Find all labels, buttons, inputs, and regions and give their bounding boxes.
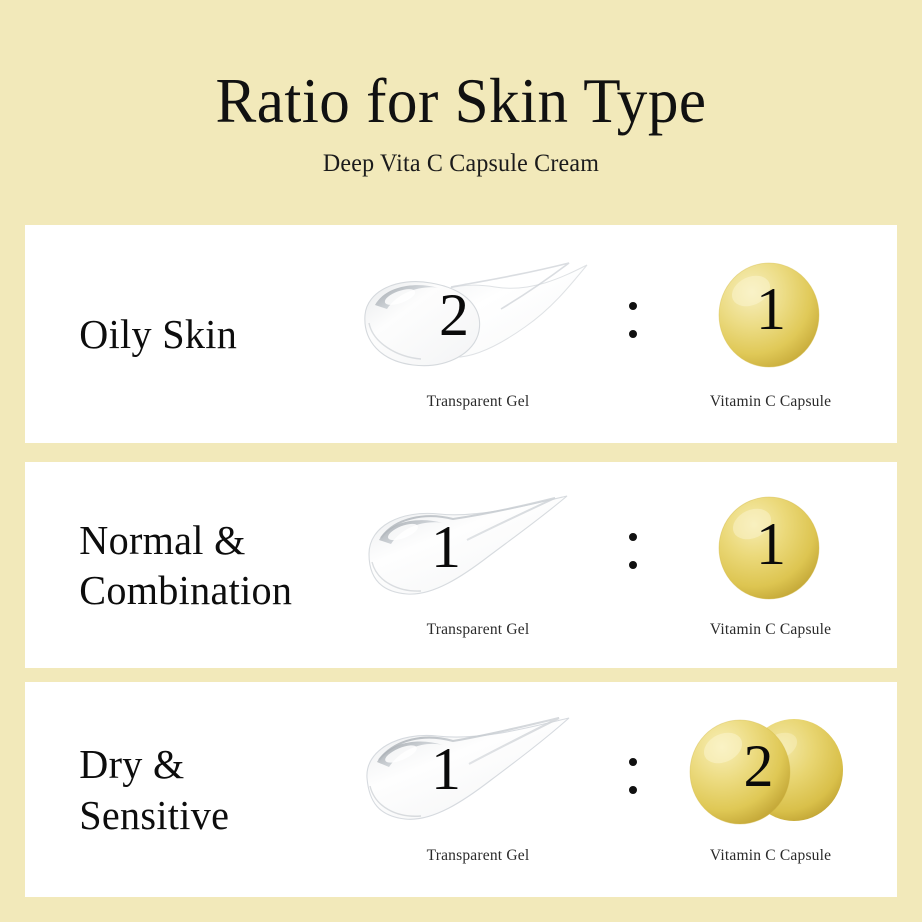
ratio-row-dry-sensitive: Dry & Sensitive bbox=[25, 682, 897, 897]
capsule-caption: Vitamin C Capsule bbox=[710, 621, 831, 639]
capsule-visual-single: 1 bbox=[711, 257, 831, 382]
separator-dot-top bbox=[629, 533, 637, 541]
infographic-page: Ratio for Skin Type Deep Vita C Capsule … bbox=[0, 0, 922, 922]
ratio-separator bbox=[600, 533, 666, 569]
vitamin-c-capsule-icon bbox=[711, 492, 831, 610]
gel-smear-single-icon bbox=[355, 492, 600, 610]
skin-type-line: Combination bbox=[79, 565, 351, 615]
ratio-area: 2 Transparent Gel bbox=[355, 225, 897, 443]
header: Ratio for Skin Type Deep Vita C Capsule … bbox=[0, 0, 922, 178]
capsule-visual-double: 2 bbox=[684, 714, 859, 836]
separator-dot-top bbox=[629, 758, 637, 766]
gel-smear-single-icon bbox=[355, 714, 600, 836]
skin-type-line: Normal & bbox=[79, 515, 351, 565]
ratio-area: 1 Transparent Gel bbox=[355, 682, 897, 897]
gel-caption: Transparent Gel bbox=[426, 847, 529, 865]
gel-caption: Transparent Gel bbox=[426, 621, 529, 639]
skin-type-line: Dry & bbox=[79, 739, 351, 789]
ingredient-transparent-gel: 2 Transparent Gel bbox=[355, 257, 600, 411]
capsule-caption: Vitamin C Capsule bbox=[710, 393, 831, 411]
capsule-visual-single: 1 bbox=[711, 492, 831, 610]
ratio-row-normal-combination: Normal & Combination bbox=[25, 462, 897, 668]
vitamin-c-capsule-icon bbox=[711, 257, 831, 382]
ratio-card-list: Oily Skin bbox=[25, 225, 897, 897]
ratio-separator bbox=[600, 302, 666, 338]
ingredient-vitamin-c-capsule: 2 Vitamin C Capsule bbox=[666, 714, 876, 865]
ratio-separator bbox=[600, 758, 666, 794]
gel-visual-single: 1 bbox=[355, 492, 600, 610]
ingredient-transparent-gel: 1 Transparent Gel bbox=[355, 714, 600, 865]
gel-smear-double-icon bbox=[355, 257, 600, 382]
separator-dot-bottom bbox=[629, 786, 637, 794]
separator-dot-top bbox=[629, 302, 637, 310]
skin-type-label-oily: Oily Skin bbox=[28, 309, 351, 359]
skin-type-line: Sensitive bbox=[79, 790, 351, 840]
page-title: Ratio for Skin Type bbox=[14, 70, 908, 133]
gel-visual-single: 1 bbox=[355, 714, 600, 836]
separator-dot-bottom bbox=[629, 330, 637, 338]
ratio-area: 1 Transparent Gel bbox=[355, 462, 897, 668]
capsule-caption: Vitamin C Capsule bbox=[710, 847, 831, 865]
skin-type-label-normal: Normal & Combination bbox=[28, 515, 351, 615]
skin-type-line: Oily Skin bbox=[79, 309, 351, 359]
ingredient-vitamin-c-capsule: 1 Vitamin C Capsule bbox=[666, 492, 876, 639]
ingredient-vitamin-c-capsule: 1 Vitamin C Capsule bbox=[666, 257, 876, 411]
vitamin-c-capsule-double-icon bbox=[684, 714, 859, 836]
page-subtitle: Deep Vita C Capsule Cream bbox=[18, 150, 903, 178]
skin-type-label-dry: Dry & Sensitive bbox=[28, 739, 351, 839]
separator-dot-bottom bbox=[629, 561, 637, 569]
gel-caption: Transparent Gel bbox=[426, 393, 529, 411]
ratio-row-oily-skin: Oily Skin bbox=[25, 225, 897, 443]
gel-visual-double: 2 bbox=[355, 257, 600, 382]
ingredient-transparent-gel: 1 Transparent Gel bbox=[355, 492, 600, 639]
